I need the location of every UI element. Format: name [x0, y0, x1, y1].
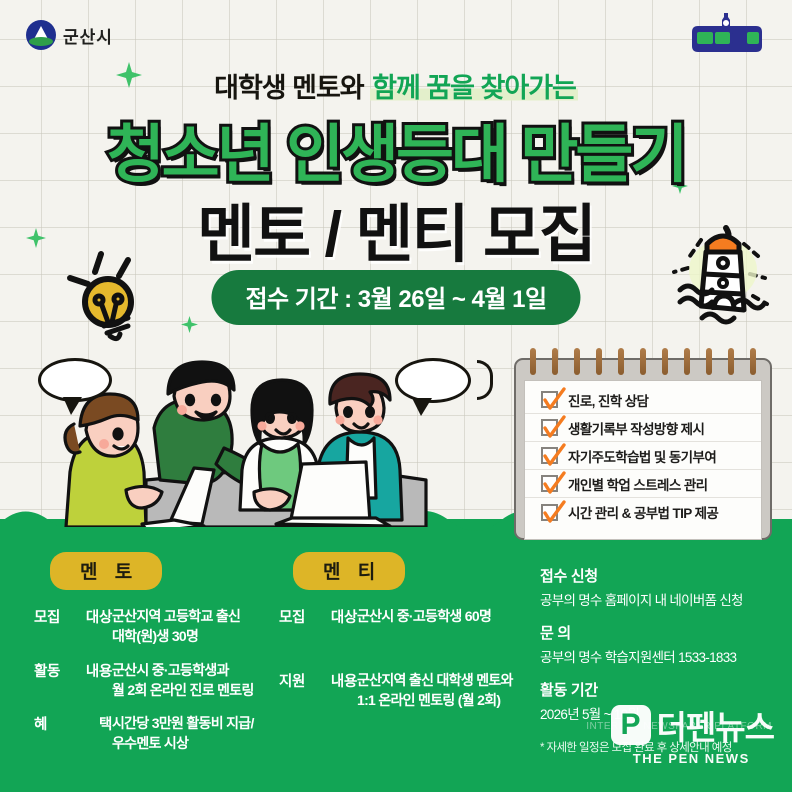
mento-row-key: 혜 택: [34, 713, 112, 754]
key-part: 내용: [86, 660, 112, 701]
city-logo: 군산시: [26, 20, 113, 50]
brand-logo-icon: [684, 12, 770, 56]
key-part: 활동: [34, 660, 60, 701]
checklist-item-label: 진로, 진학 상담: [568, 390, 648, 410]
checklist-item: 시간 관리 & 공부법 TIP 제공: [525, 498, 761, 526]
value-line: 우수멘토 시상: [112, 733, 254, 753]
menti-spacer: [279, 640, 519, 670]
page-title-line1: 청소년 인생등대 만들기: [0, 104, 792, 195]
spiral-ring: [530, 348, 536, 375]
value-line: 군산시 중·고등학생과: [112, 660, 254, 680]
key-part: 모집: [34, 606, 60, 647]
brand-logo: [684, 12, 770, 56]
key-part: 내용: [331, 670, 357, 711]
menti-row-key: 모집 대상: [279, 606, 357, 627]
menti-row-value: 군산시 중·고등학생 60명: [357, 606, 491, 627]
mento-row: 모집 대상 군산지역 고등학교 출신 대학(원)생 30명: [34, 606, 269, 647]
info-title: 접수 신청: [540, 565, 780, 586]
value-line: 군산시 중·고등학생 60명: [357, 606, 491, 626]
kicker-highlight: 함께 꿈을 찾아가는: [370, 73, 578, 103]
mento-row: 혜 택 시간당 3만원 활동비 지급/ 우수멘토 시상: [34, 713, 269, 754]
menti-row: 지원 내용 군산지역 출신 대학생 멘토와 1:1 온라인 멘토링 (월 2회): [279, 670, 519, 711]
pen-logo-icon: P: [611, 705, 651, 745]
menti-row: 모집 대상 군산시 중·고등학생 60명: [279, 606, 519, 627]
mento-badge-wrap: 멘 토: [34, 552, 269, 606]
application-period-badge: 접수 기간 : 3월 26일 ~ 4월 1일: [211, 270, 580, 325]
checklist-item: 자기주도학습법 및 동기부여: [525, 442, 761, 470]
value-line: 군산지역 출신 대학생 멘토와: [357, 670, 513, 690]
info-detail: 공부의 명수 학습지원센터 1533-1833: [540, 646, 780, 666]
info-block: 문 의 공부의 명수 학습지원센터 1533-1833: [540, 622, 780, 666]
checklist-item: 개인별 학업 스트레스 관리: [525, 470, 761, 498]
checklist-notepad: 진로, 진학 상담 생활기록부 작성방향 제시 자기주도학습법 및 동기부여 개…: [514, 358, 772, 540]
key-part: 대상: [86, 606, 112, 647]
city-logo-label: 군산시: [63, 23, 113, 48]
value-line: 1:1 온라인 멘토링 (월 2회): [357, 690, 513, 710]
info-detail: 공부의 명수 홈페이지 내 네이버폼 신청: [540, 589, 780, 609]
checklist-item-label: 시간 관리 & 공부법 TIP 제공: [568, 502, 718, 522]
checklist-item: 생활기록부 작성방향 제시: [525, 414, 761, 442]
mento-row-value: 시간당 3만원 활동비 지급/ 우수멘토 시상: [112, 713, 254, 754]
checklist-item: 진로, 진학 상담: [525, 386, 761, 414]
spiral-ring: [552, 348, 558, 375]
value-line: 월 2회 온라인 진로 멘토링: [112, 680, 254, 700]
mento-row-key: 모집 대상: [34, 606, 112, 647]
mento-badge: 멘 토: [50, 552, 162, 590]
checklist-item-label: 생활기록부 작성방향 제시: [568, 418, 704, 438]
page-title-line2: 멘토 / 멘티 모집: [0, 184, 792, 275]
mento-row-value: 군산시 중·고등학생과 월 2회 온라인 진로 멘토링: [112, 660, 254, 701]
sparkle-icon: [181, 316, 198, 333]
menti-row-key: 지원 내용: [279, 670, 357, 711]
key-part: 택: [99, 713, 112, 754]
watermark-row: P 더펜뉴스: [611, 701, 774, 749]
key-part: 혜: [34, 713, 47, 754]
spiral-ring: [640, 348, 646, 375]
gunsan-emblem-icon: [26, 20, 56, 50]
checklist-item-label: 자기주도학습법 및 동기부여: [568, 446, 716, 466]
check-icon: [541, 475, 558, 492]
menti-badge-wrap: 멘 티: [279, 552, 519, 606]
spiral-ring: [596, 348, 602, 375]
value-line: 시간당 3만원 활동비 지급/: [112, 713, 254, 733]
poster-root: 군산시: [0, 0, 792, 792]
speech-bubble-right: [395, 358, 471, 403]
watermark: P 더펜뉴스 THE PEN NEWS: [611, 701, 774, 766]
mento-row-value: 군산지역 고등학교 출신 대학(원)생 30명: [112, 606, 240, 647]
value-line: 대학(원)생 30명: [112, 626, 240, 646]
check-icon: [541, 447, 558, 464]
info-block: 접수 신청 공부의 명수 홈페이지 내 네이버폼 신청: [540, 565, 780, 609]
watermark-korean: 더펜뉴스: [657, 701, 774, 749]
page-kicker: 대학생 멘토와 함께 꿈을 찾아가는: [0, 66, 792, 105]
key-part: 대상: [331, 606, 357, 627]
info-title: 활동 기간: [540, 679, 780, 700]
check-icon: [541, 504, 558, 521]
key-part: 모집: [279, 606, 305, 627]
mento-column: 멘 토 모집 대상 군산지역 고등학교 출신 대학(원)생 30명 활동 내용 …: [34, 552, 269, 767]
menti-row-value: 군산지역 출신 대학생 멘토와 1:1 온라인 멘토링 (월 2회): [357, 670, 513, 711]
checklist-item-label: 개인별 학업 스트레스 관리: [568, 474, 707, 494]
key-part: 지원: [279, 670, 305, 711]
info-title: 문 의: [540, 622, 780, 643]
value-line: 군산지역 고등학교 출신: [112, 606, 240, 626]
watermark-english: THE PEN NEWS: [611, 751, 774, 766]
mento-row: 활동 내용 군산시 중·고등학생과 월 2회 온라인 진로 멘토링: [34, 660, 269, 701]
speech-bubble-left: [38, 358, 112, 402]
spiral-ring: [574, 348, 580, 375]
menti-badge: 멘 티: [293, 552, 405, 590]
mento-row-key: 활동 내용: [34, 660, 112, 701]
check-icon: [541, 391, 558, 408]
spiral-ring: [618, 348, 624, 375]
menti-column: 멘 티 모집 대상 군산시 중·고등학생 60명 지원 내용 군산지역 출신 대…: [279, 552, 519, 724]
notepad-sheet: 진로, 진학 상담 생활기록부 작성방향 제시 자기주도학습법 및 동기부여 개…: [524, 380, 762, 540]
check-icon: [541, 419, 558, 436]
kicker-plain: 대학생 멘토와: [214, 73, 370, 103]
